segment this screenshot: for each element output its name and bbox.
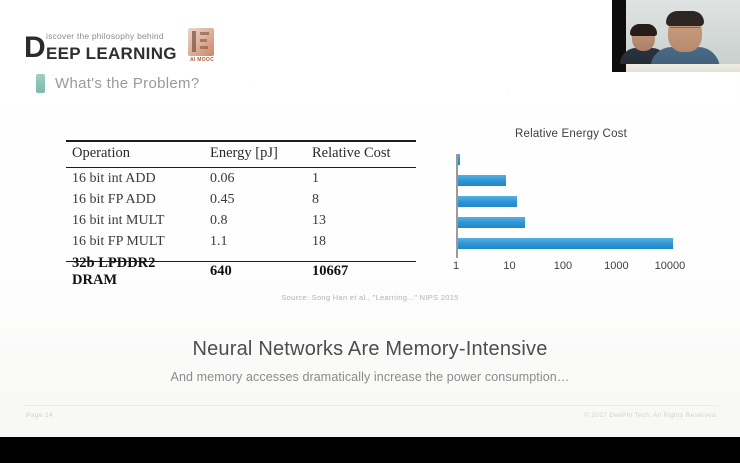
footer-divider xyxy=(22,405,718,406)
x-tick-label: 100 xyxy=(554,260,572,272)
source-citation: Source: Song Han et al., "Learning..." N… xyxy=(0,293,740,302)
cell-energy: 1.1 xyxy=(204,231,306,252)
table-row: 16 bit int MULT 0.8 13 xyxy=(66,210,416,231)
chart-x-tick-labels: 110100100010000 xyxy=(448,260,694,276)
cell-energy: 0.8 xyxy=(204,210,306,231)
cell-operation: 16 bit int MULT xyxy=(66,210,204,231)
screen-capture: D iscover the philosophy behind EEP LEAR… xyxy=(0,0,740,463)
bar-row xyxy=(456,217,686,237)
page-number: Page 14 xyxy=(26,412,53,419)
cell-operation: 16 bit FP ADD xyxy=(66,189,204,210)
chart-bar xyxy=(458,217,525,228)
table-header-operation: Operation xyxy=(66,141,204,168)
x-tick-label: 10000 xyxy=(655,260,686,272)
table-row: 32b LPDDR2 DRAM 640 10667 xyxy=(66,252,416,291)
ai-mooc-badge: AI MOOC xyxy=(186,28,218,68)
logo-wordmark: EEP LEARNING xyxy=(46,44,177,63)
cell-energy: 0.06 xyxy=(204,168,306,190)
chart-title: Relative Energy Cost xyxy=(448,128,694,140)
cell-relative-cost: 18 xyxy=(306,231,416,252)
table-header-row: Operation Energy [pJ] Relative Cost xyxy=(66,141,416,168)
badge-caption: AI MOOC xyxy=(186,57,218,63)
cell-relative-cost: 1 xyxy=(306,168,416,190)
cell-operation: 32b LPDDR2 DRAM xyxy=(66,252,204,291)
bar-row xyxy=(456,154,686,174)
x-tick-label: 1 xyxy=(453,260,459,272)
bar-row xyxy=(456,175,686,195)
cell-relative-cost: 13 xyxy=(306,210,416,231)
section-title: What's the Problem? xyxy=(55,75,199,92)
x-tick-label: 10 xyxy=(503,260,515,272)
chart-bar xyxy=(458,238,673,249)
webcam-overlay[interactable] xyxy=(612,0,740,72)
cell-operation: 16 bit FP MULT xyxy=(66,231,204,252)
table-header-energy: Energy [pJ] xyxy=(204,141,306,168)
table-header-relative-cost: Relative Cost xyxy=(306,141,416,168)
slide-headline: Neural Networks Are Memory-Intensive xyxy=(0,338,740,361)
chart-plot-area xyxy=(456,154,686,258)
badge-mark-icon xyxy=(188,28,214,56)
chart-bar xyxy=(458,154,460,165)
copyright-notice: © 2017 DeePhi Tech. All Rights Reserved. xyxy=(584,412,718,419)
chart-bar xyxy=(458,175,506,186)
section-bullet-icon xyxy=(36,74,45,93)
table-row: 16 bit FP ADD 0.45 8 xyxy=(66,189,416,210)
cell-relative-cost: 8 xyxy=(306,189,416,210)
webcam-desk xyxy=(612,64,740,72)
table-row: 16 bit int ADD 0.06 1 xyxy=(66,168,416,190)
energy-cost-table: Operation Energy [pJ] Relative Cost 16 b… xyxy=(66,140,416,291)
slide-subheadline: And memory accesses dramatically increas… xyxy=(0,370,740,384)
cell-operation: 16 bit int ADD xyxy=(66,168,204,190)
x-tick-label: 1000 xyxy=(604,260,628,272)
table-bottom-rule xyxy=(66,261,416,262)
cell-relative-cost: 10667 xyxy=(306,252,416,291)
bar-row xyxy=(456,196,686,216)
bar-row xyxy=(456,238,686,258)
chart-bar xyxy=(458,196,518,207)
cell-energy: 640 xyxy=(204,252,306,291)
logo-drop-cap: D xyxy=(24,33,45,63)
cell-energy: 0.45 xyxy=(204,189,306,210)
table-row: 16 bit FP MULT 1.1 18 xyxy=(66,231,416,252)
logo-tagline: iscover the philosophy behind xyxy=(46,31,164,41)
relative-energy-cost-chart: Relative Energy Cost 110100100010000 xyxy=(448,128,694,288)
section-heading: What's the Problem? xyxy=(36,72,199,94)
